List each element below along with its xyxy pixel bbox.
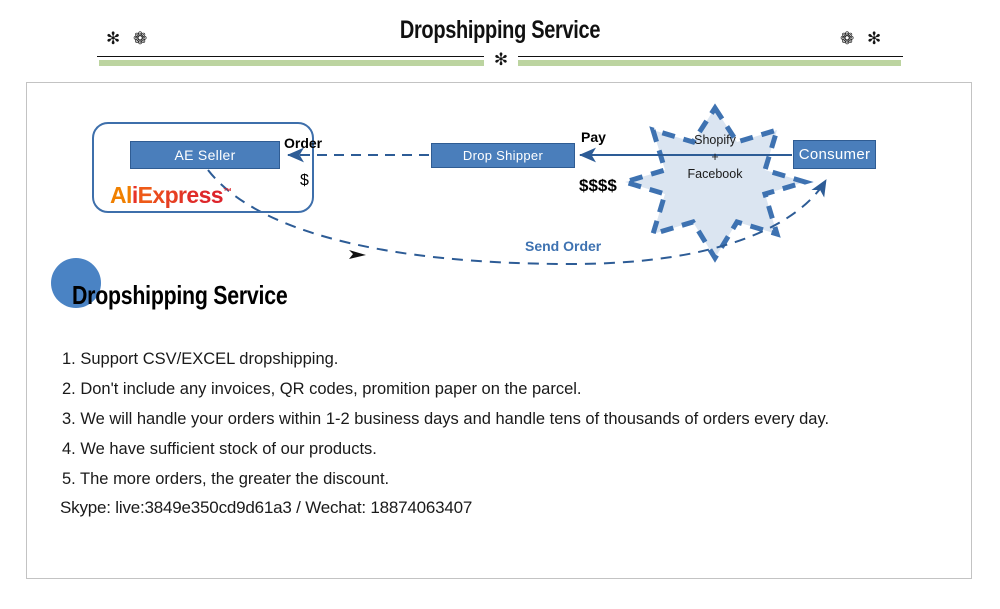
logo-char-x: x [152, 182, 164, 208]
feature-bullet-list: 1. Support CSV/EXCEL dropshipping. 2. Do… [62, 344, 962, 494]
page-header: Dropshipping Service ✻ ❁ ❁ ✻ ✻ [0, 0, 1000, 82]
logo-char-p: p [165, 182, 178, 208]
star-label-plus: + [669, 149, 761, 166]
aliexpress-logo: AliExpress™ [110, 182, 231, 209]
ornament-flower-left: ✻ ❁ [106, 30, 151, 47]
dropshipping-flow-diagram: AE Seller Drop Shipper Consumer AliExpre… [26, 82, 972, 282]
page-title: Dropshipping Service [100, 16, 900, 45]
logo-char-s1: s [199, 182, 211, 208]
contact-info: Skype: live:3849e350cd9d61a3 / Wechat: 1… [60, 498, 472, 518]
node-ae-seller-label: AE Seller [174, 147, 235, 163]
ornament-flower-right: ❁ ✻ [840, 30, 885, 47]
edge-label-dollars: $$$$ [579, 176, 617, 196]
list-item: 5. The more orders, the greater the disc… [62, 464, 962, 494]
ornament-flower-center: ✻ [484, 50, 518, 69]
edge-label-send-order: Send Order [525, 238, 601, 254]
section-heading: Dropshipping Service [72, 280, 287, 311]
node-drop-shipper[interactable]: Drop Shipper [431, 143, 575, 168]
edge-label-pay: Pay [581, 129, 606, 145]
node-consumer-label: Consumer [799, 146, 871, 163]
star-label-facebook: Facebook [669, 166, 761, 183]
star-label-shopify: Shopify [669, 132, 761, 149]
list-item: 3. We will handle your orders within 1-2… [62, 404, 962, 434]
logo-trademark: ™ [223, 186, 231, 196]
logo-char-s2: s [211, 182, 223, 208]
list-item: 1. Support CSV/EXCEL dropshipping. [62, 344, 962, 374]
logo-char-e: E [138, 182, 153, 208]
node-ae-seller[interactable]: AE Seller [130, 141, 280, 169]
shopify-facebook-star [625, 108, 805, 258]
logo-char-a: A [110, 182, 126, 208]
list-item: 4. We have sufficient stock of our produ… [62, 434, 962, 464]
arrowhead-midcurve [349, 250, 366, 259]
list-item: 2. Don't include any invoices, QR codes,… [62, 374, 962, 404]
edge-label-order: Order [284, 135, 322, 151]
node-drop-shipper-label: Drop Shipper [463, 148, 543, 163]
node-consumer[interactable]: Consumer [793, 140, 876, 169]
edge-label-dollar: $ [300, 172, 309, 190]
star-label-group: Shopify + Facebook [669, 132, 761, 183]
logo-char-e2: e [186, 182, 198, 208]
